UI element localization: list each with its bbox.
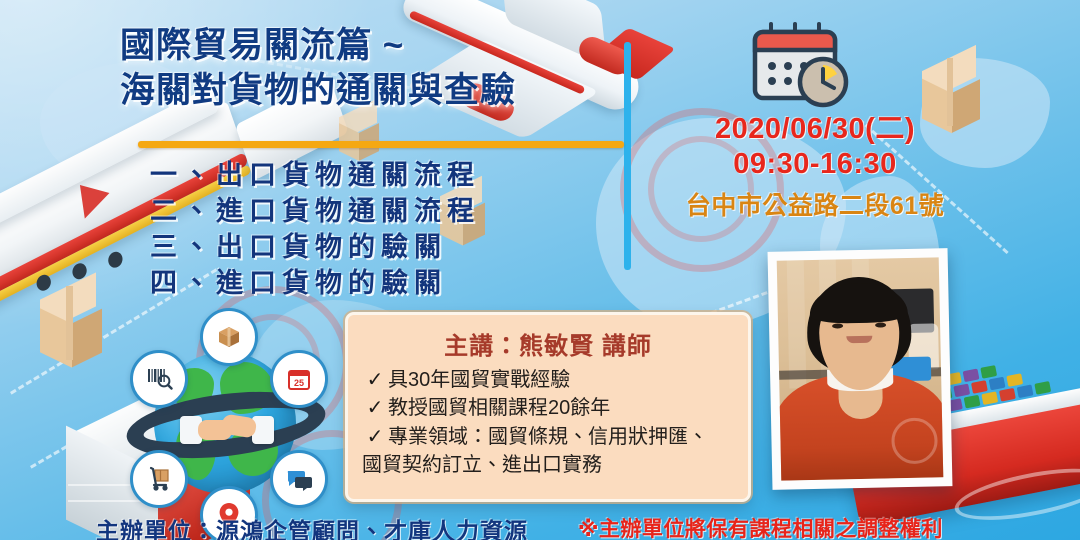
- train-wheel: [106, 249, 124, 270]
- ship-container: [964, 395, 981, 409]
- handshake-icon: [180, 410, 274, 452]
- organizer-text: 主辦單位：源鴻企管顧問、才庫人力資源: [96, 512, 528, 540]
- check-icon: ✓: [362, 368, 388, 392]
- agenda-item-4: 四、進口貨物的驗關: [150, 266, 630, 302]
- ship-container: [963, 369, 980, 383]
- credential-text: 教授國貿相關課程20餘年: [388, 396, 734, 420]
- schedule-block: 2020/06/30(二) 09:30-16:30: [640, 112, 990, 182]
- agenda-list: 一、出口貨物通關流程 二、進口貨物通關流程 三、出口貨物的驗關 四、進口貨物的驗…: [150, 158, 630, 302]
- credential-text: 具30年國貿實戰經驗: [388, 368, 734, 392]
- ship-container: [1017, 384, 1034, 398]
- train-wheel: [35, 272, 53, 293]
- page-title: 國際貿易關流篇 ~ 海關對貨物的通關與查驗: [120, 24, 630, 114]
- speaker-credential-2: ✓ 教授國貿相關課程20餘年: [362, 396, 734, 420]
- title-line-2: 海關對貨物的通關與查驗: [120, 69, 630, 114]
- credential-text: 專業領域：國貿條規、信用狀押匯、: [388, 425, 734, 449]
- ship-container: [980, 365, 997, 379]
- barcode-scanner-icon: [130, 350, 188, 408]
- ship-container: [989, 377, 1006, 391]
- agenda-item-2: 二、進口貨物通關流程: [150, 194, 630, 230]
- ship-container: [981, 391, 998, 405]
- title-line-1: 國際貿易關流篇 ~: [120, 24, 630, 69]
- calendar-25-icon: 25: [270, 350, 328, 408]
- ship-container: [1006, 373, 1023, 387]
- speaker-credential-3: ✓ 專業領域：國貿條規、信用狀押匯、: [362, 425, 734, 449]
- calendar-clock-icon: [747, 20, 855, 112]
- check-icon: ✓: [362, 396, 388, 420]
- speaker-credential-1: ✓ 具30年國貿實戰經驗: [362, 368, 734, 392]
- seminar-poster: 25: [0, 0, 1080, 540]
- package-box-icon: [200, 308, 258, 366]
- cardboard-box: [330, 108, 386, 164]
- title-underline-rule: [138, 141, 624, 148]
- check-icon: ✓: [362, 425, 388, 449]
- event-time: 09:30-16:30: [640, 147, 990, 182]
- speaker-info-panel: 主講：熊敏賢 講師 ✓ 具30年國貿實戰經驗 ✓ 教授國貿相關課程20餘年 ✓ …: [345, 312, 751, 502]
- credential-text-continuation: 國貿契約訂立、進出口實務: [362, 453, 734, 477]
- event-venue: 台中市公益路二段61號: [640, 186, 990, 222]
- ship-container: [953, 384, 970, 398]
- speaker-photo-image: [777, 257, 944, 480]
- train-wheel: [70, 261, 88, 282]
- ship-container: [999, 388, 1016, 402]
- hand-truck-icon: [130, 450, 188, 508]
- svg-text:25: 25: [294, 378, 304, 388]
- global-trade-illustration: 25: [118, 318, 333, 533]
- cardboard-box: [26, 286, 110, 370]
- speaker-photo: [768, 248, 953, 490]
- speaker-name-heading: 主講：熊敏賢 講師: [362, 326, 734, 361]
- ship-container: [1034, 381, 1051, 395]
- event-date: 2020/06/30(二): [640, 112, 990, 147]
- agenda-item-1: 一、出口貨物通關流程: [150, 158, 630, 194]
- agenda-item-3: 三、出口貨物的驗關: [150, 230, 630, 266]
- train-arrow-marking: [68, 172, 110, 218]
- water-ripple: [951, 459, 1080, 530]
- disclaimer-text: ※主辦單位將保有課程相關之調整權利: [578, 513, 943, 540]
- ship-container: [971, 380, 988, 394]
- chat-bubbles-icon: [270, 450, 328, 508]
